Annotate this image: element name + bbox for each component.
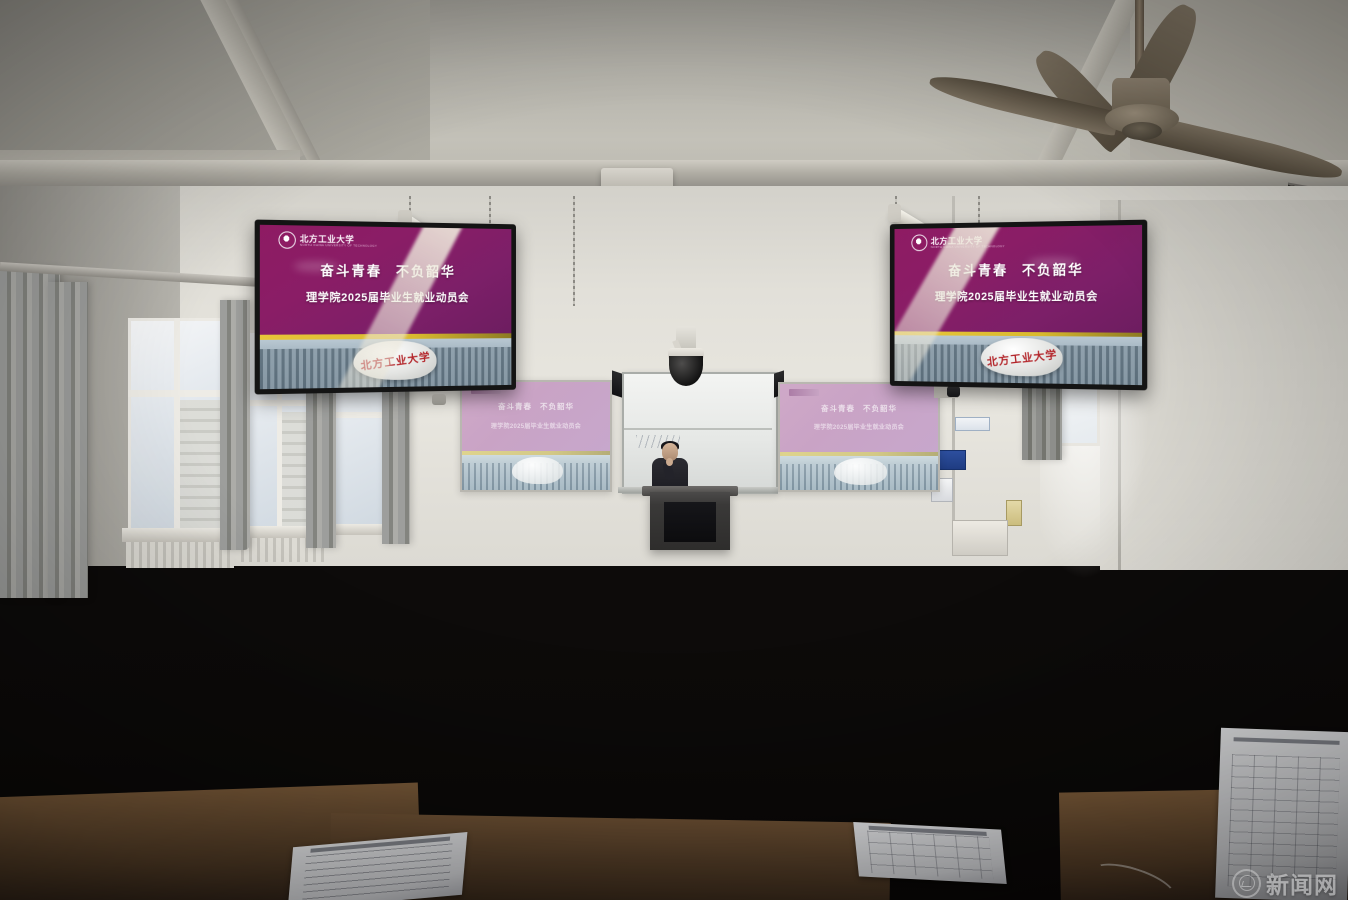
ceiling-fan-icon xyxy=(505,0,945,170)
university-seal-icon xyxy=(911,235,927,252)
lamp-chain xyxy=(573,196,575,306)
projection-headline: 奋斗青春不负韶华 xyxy=(462,401,610,412)
university-logo: 北方工业大学 NORTH CHINA UNIVERSITY OF TECHNOL… xyxy=(911,233,1005,251)
headline-part-1: 奋斗青春 xyxy=(948,263,1008,278)
projection-campus-rock xyxy=(512,457,562,484)
window-mullion xyxy=(174,318,180,530)
right-wall-tv: 北方工业大学 NORTH CHINA UNIVERSITY OF TECHNOL… xyxy=(890,220,1147,391)
headline-part-1: 奋斗青春 xyxy=(498,402,532,411)
tv-campus-photo: 北方工业大学 xyxy=(260,338,511,389)
news-watermark: 新闻网 xyxy=(1232,866,1338,900)
headline-part-2: 不负韶华 xyxy=(396,264,456,279)
left-projection-screen: 奋斗青春不负韶华 理学院2025届毕业生就业动员会 xyxy=(460,380,612,492)
lamp-end-cap xyxy=(888,204,901,222)
university-name-en: NORTH CHINA UNIVERSITY OF TECHNOLOGY xyxy=(300,243,377,248)
university-name-en: NORTH CHINA UNIVERSITY OF TECHNOLOGY xyxy=(931,244,1005,249)
lecture-hall-photo: 奋斗青春不负韶华 理学院2025届毕业生就业动员会 奋斗青春不负韶华 理学院20… xyxy=(0,0,1348,900)
rock-inscription: 北方工业大学 xyxy=(986,346,1058,370)
fan-cap xyxy=(1122,122,1162,140)
projection-campus-rock xyxy=(834,458,888,484)
headline-part-2: 不负韶华 xyxy=(540,402,574,411)
campus-rock: 北方工业大学 xyxy=(354,341,437,381)
whiteboard-divider xyxy=(624,428,772,430)
tv-campus-photo: 北方工业大学 xyxy=(895,335,1143,385)
projection-subtitle: 理学院2025届毕业生就业动员会 xyxy=(462,421,610,430)
window-mullion xyxy=(330,412,386,418)
tv-headline: 奋斗青春不负韶华 xyxy=(260,259,511,281)
right-projection-screen: 奋斗青春不负韶华 理学院2025届毕业生就业动员会 xyxy=(778,382,940,492)
headline-part-1: 奋斗青春 xyxy=(320,264,382,280)
handout-paper-center xyxy=(853,822,1007,884)
watermark-text: 新闻网 xyxy=(1266,866,1338,900)
wall-sign-white xyxy=(955,417,990,431)
tv-subtitle: 理学院2025届毕业生就业动员会 xyxy=(260,289,511,306)
rock-inscription: 北方工业大学 xyxy=(360,349,432,374)
wall-sign-blue xyxy=(938,450,966,470)
paper-table-grid xyxy=(867,831,993,880)
headline-part-1: 奋斗青春 xyxy=(821,404,855,413)
university-logo-icon xyxy=(789,389,819,396)
headline-part-2: 不负韶华 xyxy=(863,404,897,413)
whiteboard xyxy=(622,372,778,494)
tv-headline: 奋斗青春不负韶华 xyxy=(895,258,1143,280)
left-wall-tv: 北方工业大学 NORTH CHINA UNIVERSITY OF TECHNOL… xyxy=(255,220,516,395)
projection-photo xyxy=(462,455,610,490)
paper-heading xyxy=(1234,737,1340,745)
wall-speaker-left xyxy=(612,370,622,397)
headline-part-2: 不负韶华 xyxy=(1022,263,1084,279)
projection-subtitle: 理学院2025届毕业生就业动员会 xyxy=(780,422,938,431)
university-logo: 北方工业大学 NORTH CHINA UNIVERSITY OF TECHNOL… xyxy=(278,232,377,251)
news-seal-icon xyxy=(1232,869,1261,898)
paper-text-lines xyxy=(302,843,453,900)
projection-photo xyxy=(780,456,938,490)
wall-camera-icon-right xyxy=(947,386,960,397)
tv-subtitle: 理学院2025届毕业生就业动员会 xyxy=(895,287,1143,304)
presenter-hand xyxy=(666,458,673,466)
university-seal-icon xyxy=(278,232,295,250)
wall-camera-icon-left xyxy=(432,394,446,405)
projection-headline: 奋斗青春不负韶华 xyxy=(780,403,938,414)
